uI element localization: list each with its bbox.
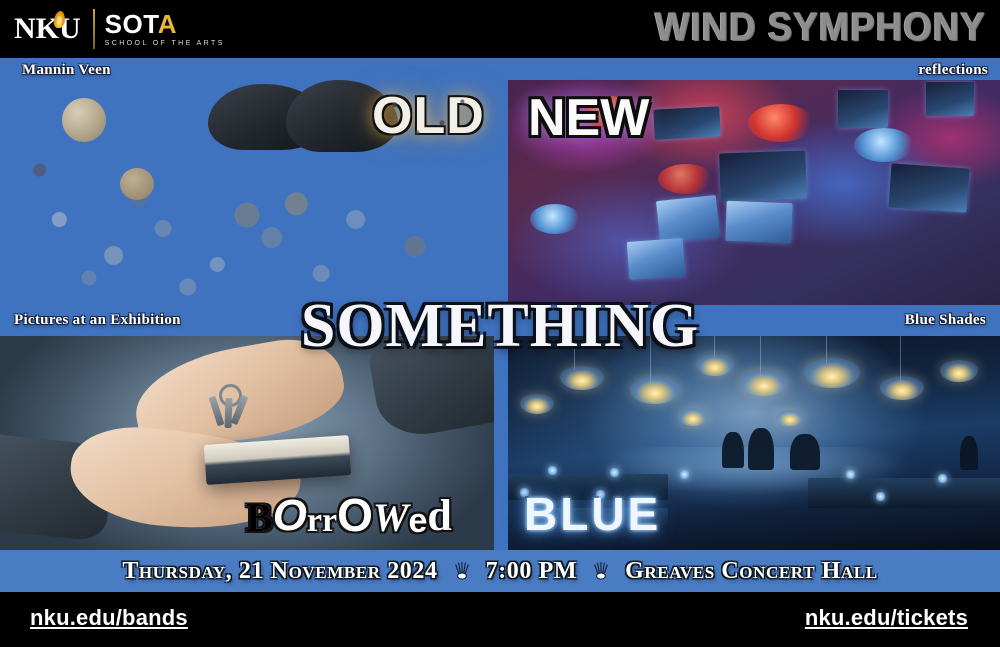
monitor-icon xyxy=(719,151,807,202)
hanging-lamp-icon xyxy=(560,366,604,390)
hanging-lamp-icon xyxy=(940,360,978,382)
tickets-url-link[interactable]: nku.edu/tickets xyxy=(805,605,968,631)
table-icon xyxy=(808,478,1000,508)
laptop-icon xyxy=(653,106,720,139)
fan-ornament-icon xyxy=(450,559,474,583)
hanging-lamp-icon xyxy=(804,358,860,388)
candle-light xyxy=(610,468,619,477)
theme-word-blue: BLUE xyxy=(524,489,661,539)
borrowed-letter: e xyxy=(408,504,427,538)
musician-silhouette xyxy=(790,434,820,470)
laptop-icon xyxy=(889,163,970,212)
piece-label-pictures-at-an-exhibition: Pictures at an Exhibition xyxy=(14,312,181,329)
neon-glow xyxy=(748,104,814,142)
event-venue: Greaves Concert Hall xyxy=(625,558,878,585)
theme-word-borrowed: B O rr O W e d xyxy=(246,492,452,538)
hanging-lamp-icon xyxy=(776,410,804,426)
poster-header: NKU SOTA SCHOOL OF THE ARTS WIND SYMPHON… xyxy=(0,0,1000,58)
key-icon xyxy=(224,398,232,428)
musician-silhouette xyxy=(748,428,774,470)
sota-subtitle: SCHOOL OF THE ARTS xyxy=(105,40,225,47)
ensemble-title: WIND SYMPHONY xyxy=(655,2,986,52)
yarn-ball-icon xyxy=(120,168,154,200)
neon-glow xyxy=(530,204,580,234)
hanging-lamp-icon xyxy=(740,370,788,396)
piece-label-mannin-veen: Mannin Veen xyxy=(22,62,111,79)
borrowed-letter: B xyxy=(246,498,273,538)
borrowed-letter: O xyxy=(337,492,373,538)
tablet-icon xyxy=(656,195,720,243)
sota-accent-letter: A xyxy=(158,9,177,39)
nku-text: NKU xyxy=(14,14,81,44)
poster-footer: nku.edu/bands nku.edu/tickets xyxy=(0,592,1000,647)
borrowed-letter: d xyxy=(427,494,451,538)
person-silhouette xyxy=(960,436,978,470)
candle-light xyxy=(548,466,557,475)
borrowed-letter: rr xyxy=(307,504,337,538)
yarn-ball-icon xyxy=(62,98,106,142)
hanging-lamp-icon xyxy=(880,376,924,400)
theme-word-new: NEW xyxy=(528,90,649,146)
theme-word-old: OLD xyxy=(372,88,485,144)
nku-sota-logo: NKU SOTA SCHOOL OF THE ARTS xyxy=(14,6,225,52)
fan-ornament-icon xyxy=(589,559,613,583)
borrowed-letter: W xyxy=(373,498,409,538)
nku-wordmark: NKU xyxy=(14,14,81,44)
borrowed-letter: O xyxy=(273,494,307,538)
keys-icon xyxy=(205,384,261,426)
neon-glow xyxy=(658,164,714,194)
monitor-icon xyxy=(926,82,974,116)
concert-poster: NKU SOTA SCHOOL OF THE ARTS WIND SYMPHON… xyxy=(0,0,1000,647)
theme-word-something: SOMETHING xyxy=(301,294,699,358)
event-details-bar: Thursday, 21 November 2024 7:00 PM Greav… xyxy=(0,550,1000,592)
logo-divider xyxy=(93,9,95,49)
monitor-icon xyxy=(838,90,888,128)
musician-silhouette xyxy=(722,432,744,468)
piece-label-reflections: reflections xyxy=(918,62,988,79)
neon-glow xyxy=(854,128,914,162)
bands-url-link[interactable]: nku.edu/bands xyxy=(30,605,188,631)
piece-label-blue-shades: Blue Shades xyxy=(905,312,986,329)
sota-wordmark: SOTA xyxy=(105,11,225,37)
sota-block: SOTA SCHOOL OF THE ARTS xyxy=(105,11,225,47)
candle-light xyxy=(680,470,689,479)
event-time: 7:00 PM xyxy=(486,558,578,585)
candle-light xyxy=(938,474,947,483)
tablet-icon xyxy=(627,238,686,280)
candle-light xyxy=(876,492,885,501)
event-date: Thursday, 21 November 2024 xyxy=(122,558,437,585)
hanging-lamp-icon xyxy=(696,354,734,376)
hanging-lamp-icon xyxy=(678,408,708,426)
hanging-lamp-icon xyxy=(520,394,554,414)
candle-light xyxy=(846,470,855,479)
hanging-lamp-icon xyxy=(630,376,680,404)
keyboard-icon xyxy=(725,201,792,243)
